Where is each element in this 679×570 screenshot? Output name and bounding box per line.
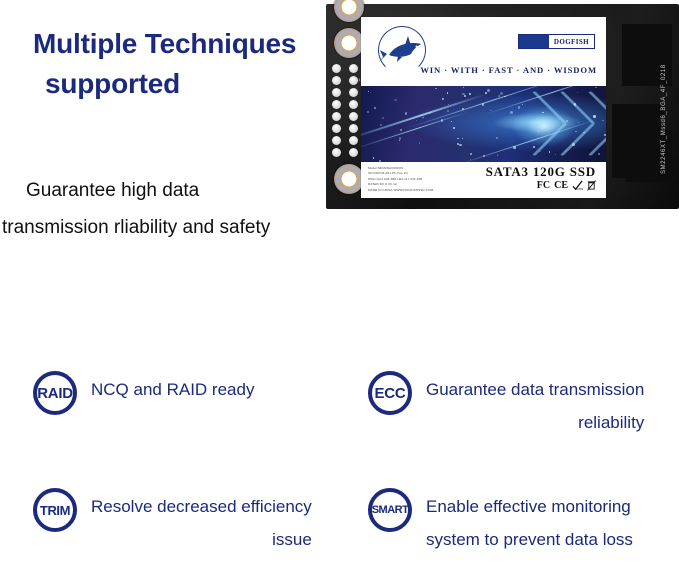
feature-line-2: issue — [91, 523, 312, 556]
feature-item-smart: SMART Enable effective monitoring system… — [368, 488, 668, 556]
spark-particle — [447, 92, 449, 94]
connector-pin — [621, 104, 623, 178]
connector-pin — [612, 104, 614, 178]
connector-pin — [618, 104, 620, 178]
spark-particle — [447, 110, 448, 111]
solder-pad — [332, 124, 341, 133]
connector-pin — [641, 130, 643, 182]
feature-line-2: system to prevent data loss — [426, 523, 633, 556]
spark-particle — [504, 96, 505, 97]
spark-particle — [595, 87, 596, 88]
solder-pad — [349, 88, 358, 97]
spark-particle — [463, 87, 465, 89]
connector-pin — [650, 24, 652, 86]
connector-pin — [626, 130, 628, 182]
spec-line: MADE IN CHINA WWW.DOGFISHSSD.COM — [368, 188, 433, 193]
pcb-silkscreen-text: C4 — [356, 78, 360, 82]
smart-badge-label: SMART — [372, 505, 409, 516]
spark-particle — [459, 144, 461, 146]
connector-pin — [647, 130, 649, 182]
connector-pin — [654, 130, 656, 182]
spark-particle — [368, 91, 370, 93]
connector-pin — [644, 130, 646, 182]
spark-particle — [549, 151, 550, 152]
spark-particle — [448, 104, 449, 105]
spark-particle — [533, 146, 535, 148]
spark-particle — [496, 137, 498, 139]
product-photo-msata-ssd: C12C19C11C4C10C1C2R9R8U2C19C3C5 SM2246XT… — [326, 3, 679, 210]
feature-line-2: reliability — [426, 406, 644, 439]
connector-pin — [635, 130, 637, 182]
connector-pin — [647, 24, 649, 86]
connector-pin — [615, 104, 617, 178]
weee-bin-icon — [587, 180, 596, 191]
spark-particle — [442, 98, 444, 100]
feature-item-raid: RAID NCQ and RAID ready — [33, 371, 343, 415]
marketing-graphic: Multiple Techniques supported Guarantee … — [0, 0, 679, 570]
product-tagline: WIN · WITH · FAST · AND · WISDOM — [420, 65, 597, 75]
spark-particle — [399, 137, 401, 139]
spark-particle — [380, 124, 382, 126]
raid-badge-icon: RAID — [33, 371, 77, 415]
feature-line-1: Enable effective monitoring — [426, 497, 631, 516]
solder-pad — [349, 136, 358, 145]
spec-text-block: Model:SDM2SAC060XNSN:DGFN6-201 Pb-free 2… — [368, 166, 433, 193]
ecc-badge-label: ECC — [374, 386, 405, 401]
connector-pin — [653, 24, 655, 86]
raid-badge-label: RAID — [37, 386, 72, 401]
ecc-badge-icon: ECC — [368, 371, 412, 415]
spark-particle — [539, 151, 540, 152]
brand-swatch — [519, 35, 549, 48]
spark-particle — [513, 146, 516, 149]
solder-pad — [349, 148, 358, 157]
fcc-icon: FC — [537, 180, 550, 191]
feature-text-ecc: Guarantee data transmission reliability — [426, 373, 644, 439]
spark-particle — [416, 120, 417, 121]
page-title: Multiple Techniques supported — [33, 24, 333, 104]
spark-particle — [470, 153, 472, 155]
spark-particle — [373, 157, 374, 158]
spark-particle — [462, 93, 465, 96]
spark-particle — [374, 107, 376, 109]
connector-pin — [638, 130, 640, 182]
smart-badge-icon: SMART — [368, 488, 412, 532]
spark-particle — [482, 103, 484, 105]
spark-particle — [602, 120, 603, 121]
feature-item-ecc: ECC Guarantee data transmission reliabil… — [368, 371, 668, 439]
ce-icon: CE — [554, 180, 568, 191]
solder-pad — [349, 124, 358, 133]
spark-particle — [604, 134, 606, 136]
connector-pin — [641, 24, 643, 86]
spark-particle — [497, 154, 499, 156]
pcb-silkscreen-label: SM2246XT_Mssd6_BGA_4F_0218 — [661, 64, 667, 174]
solder-pad — [332, 76, 341, 85]
body-line-1: Guarantee high data — [0, 172, 340, 209]
spark-particle — [469, 93, 471, 95]
trim-badge-icon: TRIM — [33, 488, 77, 532]
capacity-text: SATA3 120G SSD — [486, 164, 596, 180]
body-line-2: transmission rliability and safety — [0, 209, 340, 246]
label-bottom-area: Model:SDM2SAC060XNSN:DGFN6-201 Pb-free 2… — [361, 162, 606, 198]
feature-line-1: Guarantee data transmission — [426, 380, 644, 399]
spark-particle — [435, 88, 436, 89]
solder-pad — [332, 148, 341, 157]
spark-particle — [572, 143, 575, 146]
connector-pin — [628, 24, 630, 86]
solder-pad — [349, 100, 358, 109]
connector-pin — [644, 24, 646, 86]
trim-badge-label: TRIM — [40, 504, 70, 517]
spark-particle — [400, 129, 402, 131]
spark-particle — [470, 159, 471, 160]
solder-pad — [349, 64, 358, 73]
spark-particle — [382, 117, 384, 119]
spark-particle — [490, 110, 491, 111]
connector-pin — [622, 24, 624, 86]
spark-particle — [367, 111, 369, 113]
spark-particle — [451, 121, 452, 122]
spark-particle — [593, 115, 596, 118]
spark-particle — [405, 112, 408, 115]
spark-particle — [578, 122, 579, 123]
spark-particle — [453, 127, 455, 129]
spark-particle — [577, 92, 578, 93]
connector-pin — [651, 130, 653, 182]
feature-list: RAID NCQ and RAID ready ECC Guarantee da… — [0, 360, 679, 570]
spark-particle — [598, 153, 600, 155]
feature-text-smart: Enable effective monitoring system to pr… — [426, 490, 633, 556]
connector-pin — [656, 24, 658, 86]
solder-pad — [332, 88, 341, 97]
solder-pad — [332, 64, 341, 73]
connector-pin — [631, 24, 633, 86]
feature-item-trim: TRIM Resolve decreased efficiency issue — [33, 488, 363, 556]
spark-particle — [462, 138, 463, 139]
certification-marks: FC CE RoHS — [537, 180, 596, 191]
connector-pin — [669, 24, 671, 86]
connector-pin — [629, 130, 631, 182]
spark-particle — [464, 95, 466, 97]
body-copy: Guarantee high data transmission rliabil… — [0, 172, 340, 246]
light-streak — [361, 93, 488, 141]
connector-pin — [635, 24, 637, 86]
spark-particle — [487, 89, 490, 92]
spark-particle — [485, 92, 487, 94]
spark-particle — [457, 138, 458, 139]
spark-particle — [422, 117, 424, 119]
headline-line-1: Multiple Techniques — [33, 28, 296, 59]
feature-text-raid: NCQ and RAID ready — [91, 373, 254, 406]
spark-particle — [394, 99, 397, 102]
svg-text:RoHS: RoHS — [575, 187, 583, 191]
connector-pin — [625, 24, 627, 86]
spark-particle — [518, 106, 520, 108]
connector-pin — [638, 24, 640, 86]
feature-line-1: Resolve decreased efficiency — [91, 497, 312, 516]
spark-particle — [555, 154, 556, 155]
solder-pad — [332, 136, 341, 145]
product-label: DOGFISH WIN · WITH · FAST · AND · WISDOM — [361, 17, 606, 198]
brand-name: DOGFISH — [549, 38, 594, 46]
spark-particle — [500, 92, 503, 95]
mounting-hole-icon — [334, 28, 364, 58]
feature-line-1: NCQ and RAID ready — [91, 380, 254, 399]
spark-particle — [583, 132, 584, 133]
spark-particle — [462, 108, 464, 110]
connector-pin — [669, 130, 671, 182]
mounting-hole-icon — [334, 164, 364, 194]
feature-text-trim: Resolve decreased efficiency issue — [91, 490, 312, 556]
rohs-check-icon: RoHS — [572, 180, 583, 191]
label-top-area: DOGFISH WIN · WITH · FAST · AND · WISDOM — [361, 17, 606, 86]
spark-particle — [419, 142, 420, 143]
spark-particle — [399, 140, 400, 141]
headline-line-2: supported — [33, 64, 333, 104]
brand-box: DOGFISH — [518, 34, 595, 49]
spark-particle — [370, 92, 371, 93]
solder-pad — [332, 112, 341, 121]
label-artwork-band — [361, 86, 606, 162]
connector-pin — [632, 130, 634, 182]
connector-pin — [657, 130, 659, 182]
solder-pad — [332, 100, 341, 109]
solder-pad — [349, 112, 358, 121]
